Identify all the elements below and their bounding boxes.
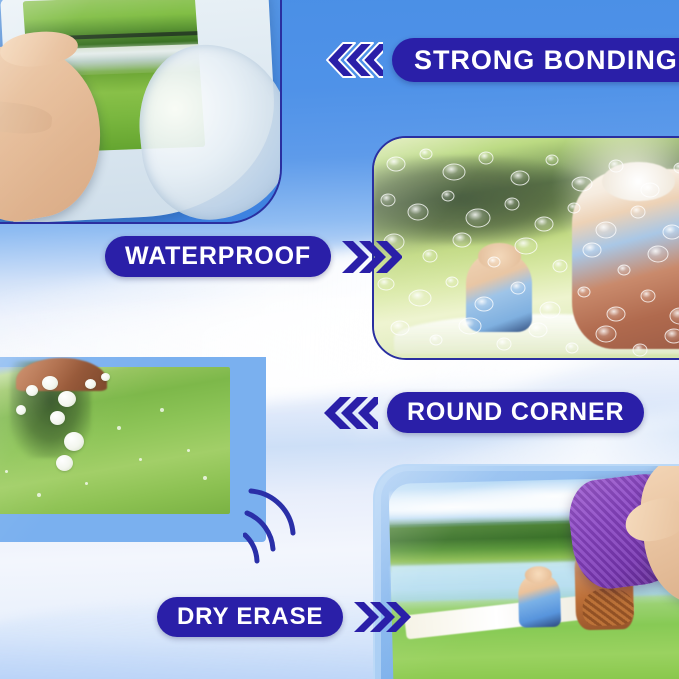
child-figure bbox=[518, 574, 561, 628]
feature-photo-dry-erase bbox=[373, 464, 679, 679]
feature-label-round-corner: ROUND CORNER bbox=[316, 392, 644, 433]
chevron-right-icon bbox=[352, 599, 412, 635]
photo-dry-erase bbox=[375, 466, 679, 679]
picnic-basket bbox=[582, 588, 634, 626]
water-droplets-overlay bbox=[374, 138, 679, 358]
round-corner-indicator-arcs bbox=[243, 487, 333, 577]
photo-strong-bonding bbox=[0, 0, 280, 222]
feature-label-strong-bonding: STRONG BONDING bbox=[317, 38, 679, 82]
feature-badge-label: ROUND CORNER bbox=[387, 392, 644, 433]
chevron-left-icon bbox=[317, 40, 383, 80]
grass-sparkle-specks bbox=[0, 367, 230, 514]
chevron-right-icon bbox=[340, 238, 402, 276]
feature-photo-waterproof bbox=[372, 136, 679, 360]
feature-badge-label: WATERPROOF bbox=[105, 236, 331, 277]
laminated-print-macro bbox=[0, 367, 230, 514]
product-feature-infographic: STRONG BONDING WATERPROOF RO bbox=[0, 0, 679, 679]
photo-round-corner bbox=[0, 357, 266, 542]
feature-photo-round-corner bbox=[0, 357, 266, 542]
photo-waterproof bbox=[374, 138, 679, 358]
feature-badge-label: DRY ERASE bbox=[157, 597, 343, 637]
feature-photo-strong-bonding bbox=[0, 0, 282, 224]
feature-label-waterproof: WATERPROOF bbox=[105, 236, 402, 277]
feature-label-dry-erase: DRY ERASE bbox=[157, 597, 412, 637]
chevron-left-icon bbox=[316, 394, 378, 432]
feature-badge-label: STRONG BONDING bbox=[392, 38, 679, 82]
